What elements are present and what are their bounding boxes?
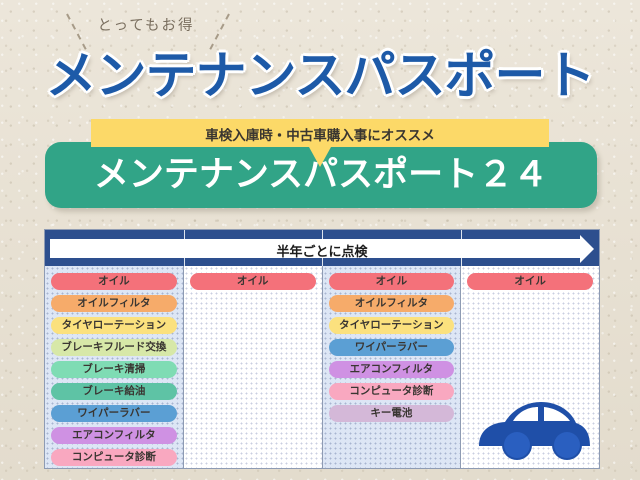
- maintenance-item-pill: コンピュータ診断: [51, 449, 177, 466]
- maintenance-item-pill: オイル: [329, 273, 455, 290]
- maintenance-item-pill: ブレーキ清掃: [51, 361, 177, 378]
- schedule-column-4: オイル: [461, 266, 599, 468]
- poster-canvas: とってもお得 メンテナンスパスポート 車検入庫時・中古車購入事にオススメ メンテ…: [0, 0, 640, 480]
- maintenance-item-pill: エアコンフィルタ: [51, 427, 177, 444]
- schedule-column-3: オイルオイルフィルタタイヤローテーションワイパーラバーエアコンフィルタコンピュー…: [323, 266, 462, 468]
- maintenance-item-pill: タイヤローテーション: [51, 317, 177, 334]
- maintenance-item-pill: オイル: [51, 273, 177, 290]
- maintenance-item-pill: コンピュータ診断: [329, 383, 455, 400]
- promo-ribbon: 車検入庫時・中古車購入事にオススメ: [91, 119, 549, 147]
- maintenance-item-pill: ワイパーラバー: [51, 405, 177, 422]
- page-title: メンテナンスパスポート: [0, 47, 640, 107]
- maintenance-item-pill: オイル: [190, 273, 316, 290]
- schedule-label: 半年ごとに点検: [45, 241, 599, 260]
- maintenance-item-pill: ワイパーラバー: [329, 339, 455, 356]
- schedule-column-2: オイル: [184, 266, 323, 468]
- kicker-text: とってもお得: [71, 14, 221, 35]
- maintenance-item-pill: オイルフィルタ: [329, 295, 455, 312]
- maintenance-item-pill: エアコンフィルタ: [329, 361, 455, 378]
- table-body: オイルオイルフィルタタイヤローテーションブレーキフルード交換ブレーキ清掃ブレーキ…: [45, 266, 599, 468]
- table-header-bar: 半年ごとに点検: [45, 230, 599, 266]
- kicker-group: とってもお得: [38, 10, 253, 52]
- schedule-column-1: オイルオイルフィルタタイヤローテーションブレーキフルード交換ブレーキ清掃ブレーキ…: [45, 266, 184, 468]
- maintenance-item-pill: オイル: [467, 273, 593, 290]
- maintenance-item-pill: タイヤローテーション: [329, 317, 455, 334]
- promo-ribbon-pointer: [309, 147, 331, 167]
- maintenance-item-pill: オイルフィルタ: [51, 295, 177, 312]
- maintenance-schedule-table: 半年ごとに点検 オイルオイルフィルタタイヤローテーションブレーキフルード交換ブレ…: [44, 229, 600, 469]
- maintenance-item-pill: キー電池: [329, 405, 455, 422]
- maintenance-item-pill: ブレーキ給油: [51, 383, 177, 400]
- promo-ribbon-text: 車検入庫時・中古車購入事にオススメ: [91, 124, 549, 144]
- maintenance-item-pill: ブレーキフルード交換: [51, 339, 177, 356]
